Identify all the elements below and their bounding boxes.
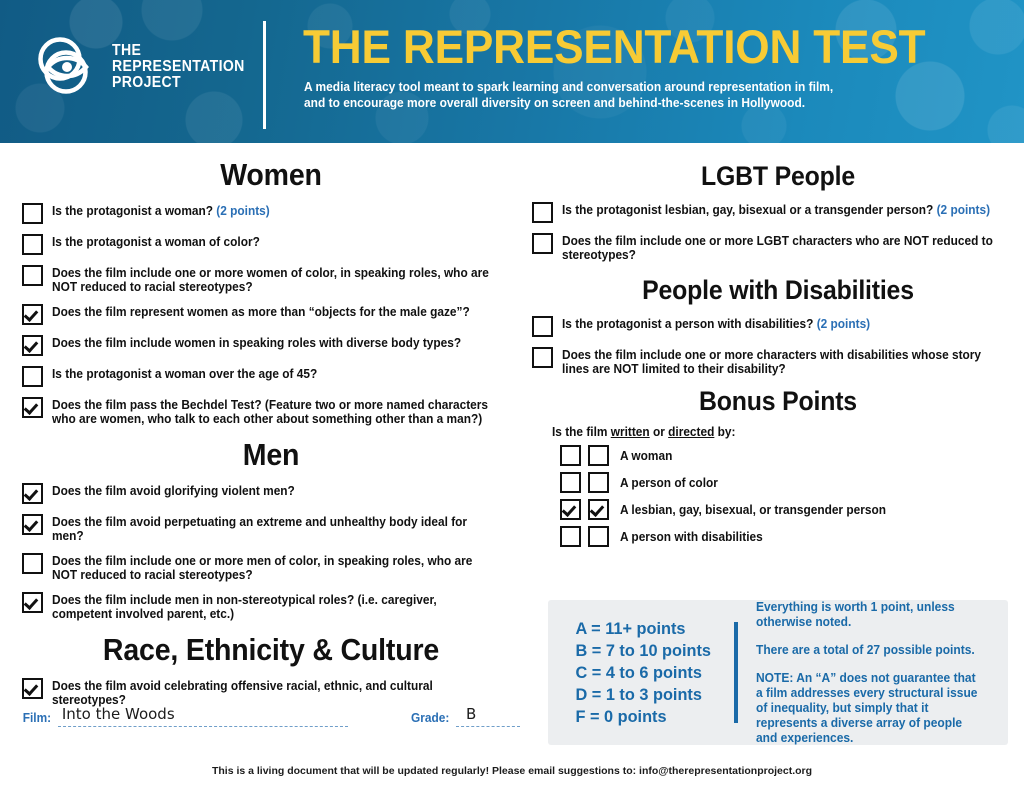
checkbox-checked[interactable] — [22, 304, 43, 325]
bonus-row: A woman — [560, 445, 1024, 466]
brand-line-1: THE — [112, 43, 245, 59]
header-divider — [263, 21, 266, 129]
checkbox-checked[interactable] — [22, 397, 43, 418]
question-item: Does the film avoid perpetuating an extr… — [22, 513, 520, 543]
bonus-row-list: A womanA person of colorA lesbian, gay, … — [532, 445, 1024, 547]
question-item: Is the protagonist a woman? (2 points) — [22, 202, 520, 224]
question-text: Is the protagonist a woman of color? — [52, 233, 260, 249]
section-title-men: Men — [42, 426, 500, 473]
legend-note: Everything is worth 1 point, unless othe… — [756, 600, 984, 630]
question-item: Is the protagonist lesbian, gay, bisexua… — [532, 201, 1024, 223]
legend-grade-line: B = 7 to 10 points — [575, 640, 727, 662]
bonus-row-label: A person with disabilities — [620, 530, 763, 544]
question-text: Is the protagonist a woman over the age … — [52, 365, 317, 381]
question-text: Does the film pass the Bechdel Test? (Fe… — [52, 396, 497, 426]
question-item: Does the film pass the Bechdel Test? (Fe… — [22, 396, 520, 426]
checkbox-checked[interactable] — [22, 335, 43, 356]
checkbox-unchecked[interactable] — [22, 553, 43, 574]
legend-grade-line: C = 4 to 6 points — [575, 662, 727, 684]
bonus-written-checkbox[interactable] — [560, 445, 581, 466]
question-text: Does the film include one or more men of… — [52, 552, 497, 582]
question-text: Does the film avoid glorifying violent m… — [52, 482, 295, 498]
checkbox-unchecked[interactable] — [22, 234, 43, 255]
brand-wordmark: THE REPRESENTATION PROJECT — [112, 43, 245, 92]
bonus-row: A lesbian, gay, bisexual, or transgender… — [560, 499, 1024, 520]
grade-input-value: B — [466, 705, 476, 723]
grade-input[interactable]: B — [456, 702, 520, 727]
question-list-men: Does the film avoid glorifying violent m… — [22, 482, 520, 621]
legend-grade-line: D = 1 to 3 points — [575, 684, 727, 706]
grade-label: Grade: — [411, 711, 449, 727]
bonus-directed-checkbox[interactable] — [588, 472, 609, 493]
bonus-written-checkbox[interactable] — [560, 526, 581, 547]
question-text: Does the film include one or more charac… — [562, 346, 1001, 376]
checkbox-unchecked[interactable] — [22, 366, 43, 387]
page-title: THE REPRESENTATION TEST — [303, 22, 925, 72]
bonus-written-checkbox[interactable] — [560, 499, 581, 520]
question-item: Does the film represent women as more th… — [22, 303, 520, 325]
checkbox-unchecked[interactable] — [532, 347, 553, 368]
question-text: Is the protagonist a woman? (2 points) — [52, 202, 270, 218]
checkbox-checked[interactable] — [22, 514, 43, 535]
bonus-directed-checkbox[interactable] — [588, 499, 609, 520]
checkbox-unchecked[interactable] — [532, 316, 553, 337]
checkbox-checked[interactable] — [22, 592, 43, 613]
bonus-row: A person of color — [560, 472, 1024, 493]
question-text: Is the protagonist lesbian, gay, bisexua… — [562, 201, 990, 217]
question-text: Does the film avoid perpetuating an extr… — [52, 513, 497, 543]
question-text: Is the protagonist a person with disabil… — [562, 315, 870, 331]
question-list-lgbt: Is the protagonist lesbian, gay, bisexua… — [532, 201, 1024, 262]
checkbox-checked[interactable] — [22, 678, 43, 699]
bonus-row: A person with disabilities — [560, 526, 1024, 547]
checkbox-unchecked[interactable] — [22, 203, 43, 224]
footer-note: This is a living document that will be u… — [0, 765, 1024, 777]
question-points: (2 points) — [933, 203, 990, 217]
film-input-value: Into the Woods — [62, 705, 175, 723]
question-item: Does the film include women in speaking … — [22, 334, 520, 356]
question-text: Does the film include women in speaking … — [52, 334, 461, 350]
question-item: Is the protagonist a person with disabil… — [532, 315, 1024, 337]
film-entry-row: Film: Into the Woods Grade: B — [22, 702, 520, 727]
question-item: Is the protagonist a woman of color? — [22, 233, 520, 255]
right-column: LGBT People Is the protagonist lesbian, … — [532, 143, 1024, 547]
legend-grade-line: A = 11+ points — [575, 618, 727, 640]
legend-grade-line: F = 0 points — [575, 706, 727, 728]
question-text: Does the film include men in non-stereot… — [52, 591, 497, 621]
section-title-women: Women — [42, 143, 500, 193]
checkbox-unchecked[interactable] — [532, 202, 553, 223]
legend-note: There are a total of 27 possible points. — [756, 643, 984, 658]
question-item: Does the film include men in non-stereot… — [22, 591, 520, 621]
bonus-lead-middle: or — [650, 425, 668, 439]
bonus-written-checkbox[interactable] — [560, 472, 581, 493]
checkbox-unchecked[interactable] — [532, 233, 553, 254]
checkbox-checked[interactable] — [22, 483, 43, 504]
legend-grade-scale: A = 11+ pointsB = 7 to 10 pointsC = 4 to… — [562, 618, 727, 728]
scoring-legend: A = 11+ pointsB = 7 to 10 pointsC = 4 to… — [548, 600, 1008, 745]
question-list-women: Is the protagonist a woman? (2 points)Is… — [22, 202, 520, 426]
page-subtitle: A media literacy tool meant to spark lea… — [304, 79, 856, 111]
representation-project-logo-icon — [36, 36, 98, 98]
legend-notes: Everything is worth 1 point, unless othe… — [756, 600, 984, 746]
bonus-lead-written: written — [611, 425, 650, 439]
section-title-bonus: Bonus Points — [552, 376, 1005, 417]
brand-line-3: PROJECT — [112, 75, 245, 91]
question-text: Does the film include one or more women … — [52, 264, 497, 294]
section-title-race: Race, Ethnicity & Culture — [42, 621, 500, 668]
bonus-directed-checkbox[interactable] — [588, 526, 609, 547]
question-item: Is the protagonist a woman over the age … — [22, 365, 520, 387]
bonus-directed-checkbox[interactable] — [588, 445, 609, 466]
question-text: Does the film represent women as more th… — [52, 303, 470, 319]
question-item: Does the film include one or more charac… — [532, 346, 1024, 376]
film-input[interactable]: Into the Woods — [58, 702, 348, 727]
question-list-disabilities: Is the protagonist a person with disabil… — [532, 315, 1024, 376]
bonus-lead-text: Is the film written or directed by: — [552, 425, 1000, 439]
legend-note: NOTE: An “A” does not guarantee that a f… — [756, 671, 984, 746]
left-column: Women Is the protagonist a woman? (2 poi… — [22, 143, 520, 707]
bonus-lead-directed: directed — [668, 425, 714, 439]
film-label: Film: — [23, 711, 51, 727]
bonus-lead-prefix: Is the film — [552, 425, 611, 439]
brand-line-2: REPRESENTATION — [112, 59, 245, 75]
bonus-row-label: A lesbian, gay, bisexual, or transgender… — [620, 503, 886, 517]
question-item: Does the film include one or more women … — [22, 264, 520, 294]
section-title-lgbt: LGBT People — [552, 143, 1005, 192]
checkbox-unchecked[interactable] — [22, 265, 43, 286]
question-item: Does the film include one or more men of… — [22, 552, 520, 582]
question-points: (2 points) — [213, 204, 270, 218]
bonus-row-label: A person of color — [620, 476, 718, 490]
page-header: THE REPRESENTATION PROJECT THE REPRESENT… — [0, 0, 1024, 143]
bonus-lead-suffix: by: — [714, 425, 735, 439]
question-item: Does the film avoid glorifying violent m… — [22, 482, 520, 504]
brand-logo: THE REPRESENTATION PROJECT — [36, 36, 263, 98]
question-text: Does the film include one or more LGBT c… — [562, 232, 1001, 262]
section-title-disabilities: People with Disabilities — [552, 262, 1005, 306]
question-points: (2 points) — [813, 317, 870, 331]
legend-divider — [734, 622, 738, 723]
bonus-row-label: A woman — [620, 449, 672, 463]
question-item: Does the film include one or more LGBT c… — [532, 232, 1024, 262]
